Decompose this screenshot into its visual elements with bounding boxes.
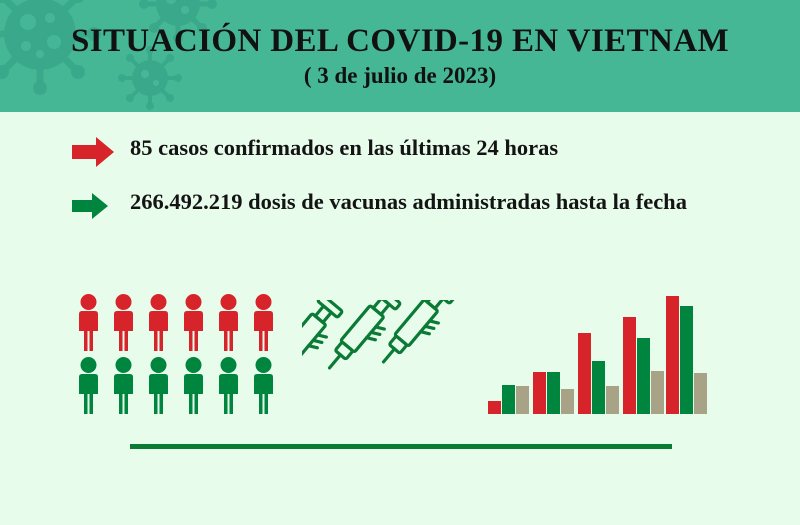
bar-group [533,286,574,414]
syringe-group [302,300,492,412]
person-icon [109,293,138,351]
person-icon [249,356,278,414]
bar [516,386,529,414]
person-icon [249,293,278,351]
bar [592,361,605,414]
person-icon [74,356,103,414]
bar-group [666,286,707,414]
header-banner: SITUACIÓN DEL COVID-19 EN VIETNAM ( 3 de… [0,0,800,112]
person-icon [179,293,208,351]
stat-item-cases: 85 casos confirmados en las últimas 24 h… [72,133,712,167]
bar [561,389,574,414]
pictogram-row-vaccinated [74,356,282,414]
bar [680,306,693,414]
stat-item-vaccine-doses: 266.492.219 dosis de vacunas administrad… [72,187,712,219]
bar [623,317,636,414]
person-icon [214,356,243,414]
bar [547,372,560,414]
bar-group [623,286,664,414]
stat-text-cases: 85 casos confirmados en las últimas 24 h… [130,133,558,163]
arrow-right-icon [72,193,108,219]
person-icon [109,356,138,414]
person-icon [144,293,173,351]
header-title-group: SITUACIÓN DEL COVID-19 EN VIETNAM ( 3 de… [0,0,800,112]
bar [578,333,591,414]
bar [651,371,664,414]
bar [606,386,619,414]
bar-group [578,286,619,414]
bar [533,372,546,414]
footer-divider [130,444,672,449]
bar-chart [488,286,720,416]
arrow-right-icon [72,137,114,167]
stat-text-vaccine-doses: 266.492.219 dosis de vacunas administrad… [130,187,687,217]
stats-bullet-list: 85 casos confirmados en las últimas 24 h… [72,133,712,239]
person-icon [179,356,208,414]
chart-plot-area [488,286,720,414]
people-pictogram [74,293,282,415]
person-icon [214,293,243,351]
page-title: SITUACIÓN DEL COVID-19 EN VIETNAM [71,24,729,59]
bar [694,373,707,414]
bar [488,401,501,414]
pictogram-row-cases [74,293,282,351]
bar [637,338,650,414]
covid-infographic: SITUACIÓN DEL COVID-19 EN VIETNAM ( 3 de… [0,0,800,525]
syringe-icon [374,300,458,373]
bar-group [488,286,529,414]
bar [502,385,515,414]
bar [666,296,679,414]
person-icon [74,293,103,351]
page-subtitle-date: ( 3 de julio de 2023) [304,64,496,88]
person-icon [144,356,173,414]
